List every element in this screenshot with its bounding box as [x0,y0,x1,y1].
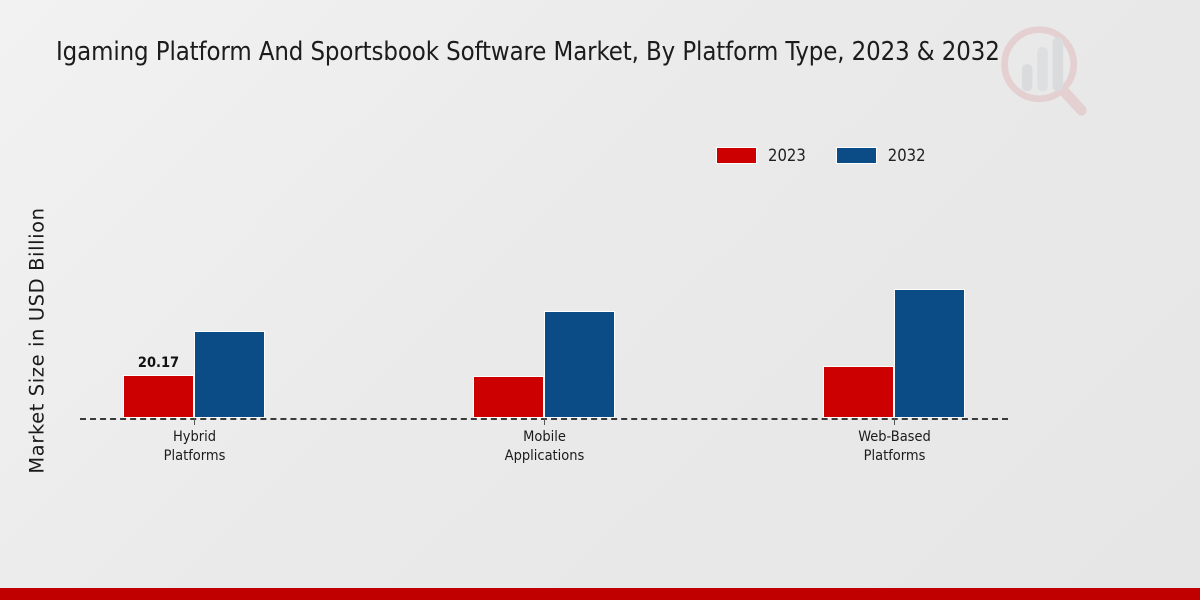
y-axis-label: Market Size in USD Billion [26,91,49,591]
x-tick-hybrid-platforms [194,418,195,425]
plot-area: 20.17 Hybrid Platforms Mobile Applicatio… [80,160,1008,418]
chart-figure: Igaming Platform And Sportsbook Software… [0,0,1200,600]
bar-2023-mobile-applications[interactable] [473,376,544,418]
bar-value-label-hybrid-2023: 20.17 [138,355,179,371]
footer-accent-bar [0,588,1200,600]
bar-group-hybrid-platforms: 20.17 Hybrid Platforms [123,160,266,418]
bar-2023-web-based-platforms[interactable] [823,366,894,418]
x-tick-label-web-based-platforms: Web-Based Platforms [783,428,1006,465]
x-tick-web-based-platforms [894,418,895,425]
x-tick-label-mobile-applications: Mobile Applications [433,428,656,465]
bar-2023-hybrid-platforms[interactable]: 20.17 [123,375,194,418]
bar-2032-mobile-applications[interactable] [544,311,615,418]
x-tick-label-hybrid-platforms: Hybrid Platforms [83,428,306,465]
bar-group-mobile-applications: Mobile Applications [473,160,616,418]
bar-2032-hybrid-platforms[interactable] [194,331,265,418]
x-tick-mobile-applications [544,418,545,425]
bar-2032-web-based-platforms[interactable] [894,289,965,418]
bar-group-web-based-platforms: Web-Based Platforms [823,160,966,418]
page-title: Igaming Platform And Sportsbook Software… [56,36,1200,70]
